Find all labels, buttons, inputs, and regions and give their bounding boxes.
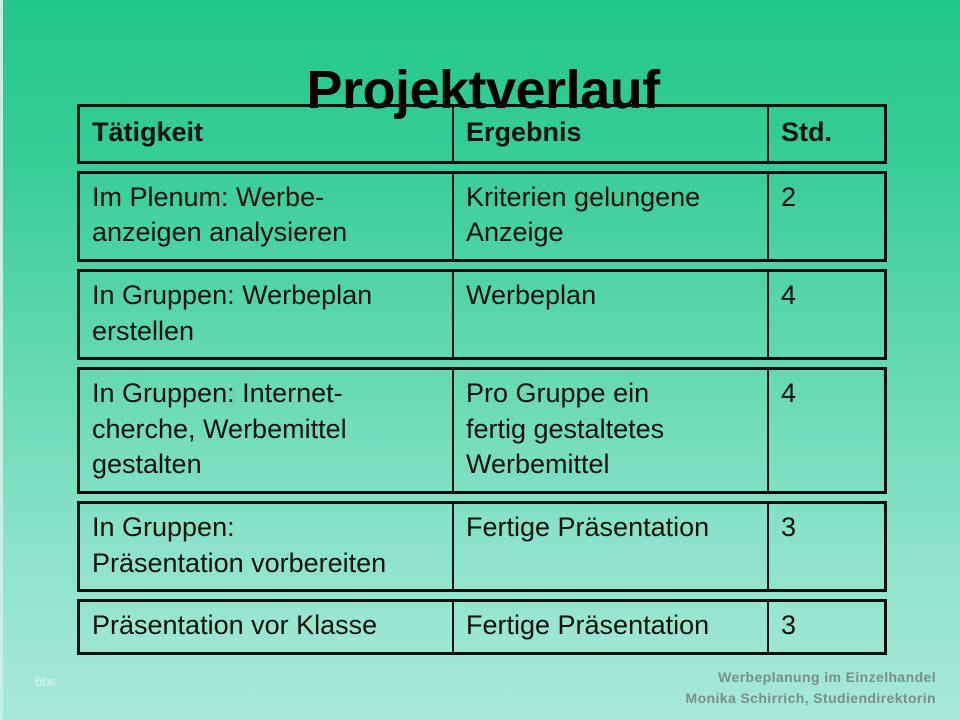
column-header-hours: Std. <box>769 107 884 161</box>
cell-hours: 4 <box>769 272 884 357</box>
cell-task: In Gruppen:Präsentation vorbereiten <box>80 504 454 589</box>
cell-task: In Gruppen: Werbeplanerstellen <box>80 272 454 357</box>
watermark-logo: bbs <box>35 674 69 690</box>
cell-task: In Gruppen: Internet-cherche, Werbemitte… <box>80 370 454 491</box>
table-row: In Gruppen: Internet-cherche, Werbemitte… <box>77 367 887 494</box>
cell-hours: 2 <box>769 174 884 259</box>
table-row: In Gruppen:Präsentation vorbereiten Fert… <box>77 501 887 592</box>
table-header-row: Tätigkeit Ergebnis Std. <box>77 104 887 164</box>
table-row: In Gruppen: Werbeplanerstellen Werbeplan… <box>77 269 887 360</box>
cell-hours: 4 <box>769 370 884 491</box>
column-header-result: Ergebnis <box>454 107 769 161</box>
cell-hours: 3 <box>769 602 884 652</box>
cell-result: Pro Gruppe einfertig gestaltetesWerbemit… <box>454 370 769 491</box>
cell-task: Im Plenum: Werbe-anzeigen analysieren <box>80 174 454 259</box>
table-row: Im Plenum: Werbe-anzeigen analysieren Kr… <box>77 171 887 262</box>
cell-result: Fertige Präsentation <box>454 602 769 652</box>
cell-result: Kriterien gelungeneAnzeige <box>454 174 769 259</box>
cell-result: Werbeplan <box>454 272 769 357</box>
cell-task: Präsentation vor Klasse <box>80 602 454 652</box>
slide-canvas: Projektverlauf Tätigkeit Ergebnis Std. I… <box>0 0 960 720</box>
cell-hours: 3 <box>769 504 884 589</box>
footer-line-course: Werbeplanung im Einzelhandel <box>686 667 936 687</box>
table-row: Präsentation vor Klasse Fertige Präsenta… <box>77 599 887 655</box>
column-header-task: Tätigkeit <box>80 107 454 161</box>
slide-footer: Werbeplanung im Einzelhandel Monika Schi… <box>686 667 936 708</box>
project-schedule-table: Tätigkeit Ergebnis Std. Im Plenum: Werbe… <box>77 104 887 655</box>
footer-line-author: Monika Schirrich, Studiendirektorin <box>686 688 936 708</box>
cell-result: Fertige Präsentation <box>454 504 769 589</box>
